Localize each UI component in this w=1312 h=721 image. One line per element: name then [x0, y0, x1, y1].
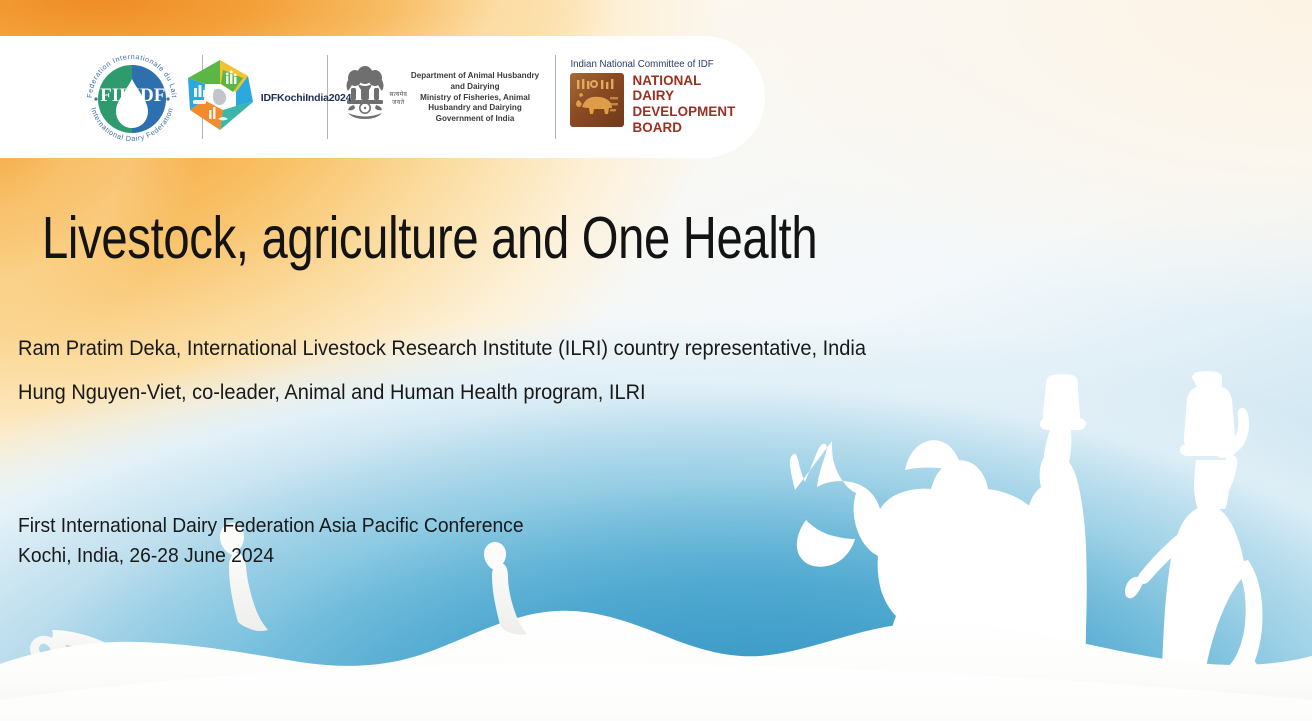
nddb-seal-icon	[570, 73, 624, 127]
fil-idf-logo: Federation Internationale du Lait Intern…	[76, 43, 188, 151]
nddb-word-1: NATIONAL	[632, 73, 735, 89]
idf-kochi-india-2024-logo: IDFKochiIndia2024	[217, 43, 313, 151]
nddb-word-3: DEVELOPMENT	[632, 104, 735, 120]
nddb-wordmark: NATIONAL DAIRY DEVELOPMENT BOARD	[632, 73, 735, 136]
presentation-slide: Federation Internationale du Lait Intern…	[0, 0, 1312, 721]
idf-text: IDF	[133, 85, 166, 106]
kochi-logo-caption: IDFKochiIndia2024	[261, 92, 352, 104]
govt-line-3: Government of India	[409, 114, 542, 125]
nddb-word-2: DAIRY	[632, 88, 735, 104]
fil-text: FIL	[100, 85, 132, 106]
govt-line-1: Department of Animal Husbandry and Dairy…	[409, 71, 542, 92]
nddb-tagline: Indian National Committee of IDF	[570, 59, 765, 70]
author-line-2: Hung Nguyen-Viet, co-leader, Animal and …	[18, 382, 1060, 404]
conference-name: First International Dairy Federation Asi…	[18, 511, 524, 541]
background-blue-wash	[0, 241, 1312, 721]
conference-location-date: Kochi, India, 26-28 June 2024	[18, 541, 524, 571]
kochi-pinwheel-icon	[179, 54, 261, 136]
conference-block: First International Dairy Federation Asi…	[18, 511, 556, 571]
sponsor-logo-banner: Federation Internationale du Lait Intern…	[0, 36, 765, 158]
government-of-india-logo: सत्यमेव जयते Department of Animal Husban…	[342, 66, 541, 129]
author-block: Ram Pratim Deka, International Livestock…	[18, 338, 1138, 425]
satyameva-jayate-motto: सत्यमेव जयते	[388, 90, 409, 106]
nddb-logo: Indian National Committee of IDF	[570, 59, 765, 136]
author-line-1: Ram Pratim Deka, International Livestock…	[18, 338, 1060, 360]
govt-line-2: Ministry of Fisheries, Animal Husbandry …	[409, 93, 542, 114]
logo-separator	[555, 55, 556, 139]
nddb-word-4: BOARD	[632, 120, 735, 136]
slide-title: Livestock, agriculture and One Health	[42, 204, 817, 272]
government-department-text: Department of Animal Husbandry and Dairy…	[409, 71, 542, 124]
